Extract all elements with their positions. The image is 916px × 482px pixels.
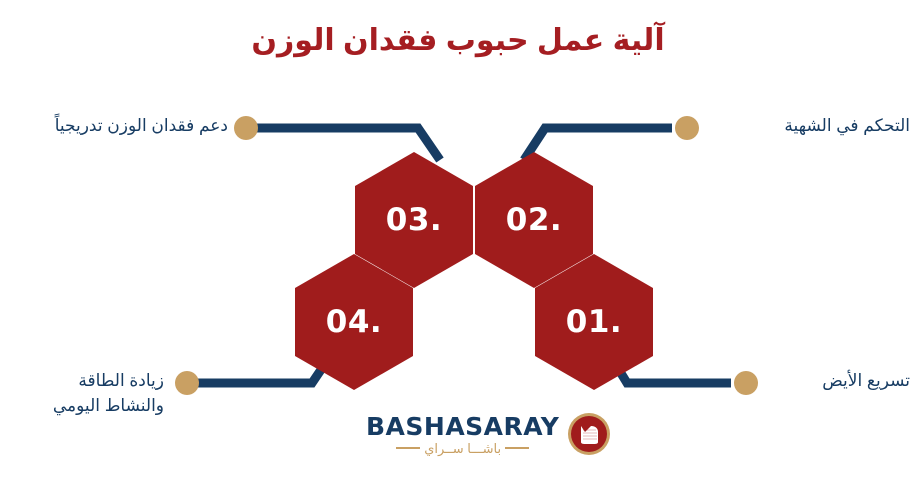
step-label-02: التحكم في الشهية bbox=[707, 114, 910, 139]
connector-top-right bbox=[524, 128, 672, 160]
brand-name-latin: BASHASARAY bbox=[366, 414, 559, 439]
connector-dot-top-left bbox=[234, 116, 258, 140]
brand-name-arabic: باشـــا ســراي bbox=[424, 442, 501, 455]
brand-name-arabic-row: باشـــا ســراي bbox=[396, 442, 529, 455]
connector-dot-top-right bbox=[675, 116, 699, 140]
step-number-04: 04. bbox=[326, 304, 382, 340]
step-number-03: 03. bbox=[386, 202, 442, 238]
brand-logo: BASHASARAY باشـــا ســراي bbox=[366, 406, 566, 462]
connector-dot-bottom-left bbox=[175, 371, 199, 395]
step-number-01: 01. bbox=[566, 304, 622, 340]
step-number-02: 02. bbox=[506, 202, 562, 238]
step-label-03: دعم فقدان الوزن تدريجياً bbox=[6, 114, 228, 139]
connector-dot-bottom-right bbox=[734, 371, 758, 395]
fez-medallion-icon bbox=[567, 412, 611, 456]
brand-logo-text: BASHASARAY باشـــا ســراي bbox=[366, 414, 559, 455]
logo-rule-right bbox=[505, 447, 529, 449]
step-label-01: تسريع الأيض bbox=[766, 369, 910, 394]
step-label-04: زيادة الطاقة والنشاط اليومي bbox=[6, 369, 164, 418]
infographic-poster: آلية عمل حبوب فقدان الوزن 03. 02. 04. 01… bbox=[0, 0, 916, 482]
logo-rule-left bbox=[396, 447, 420, 449]
